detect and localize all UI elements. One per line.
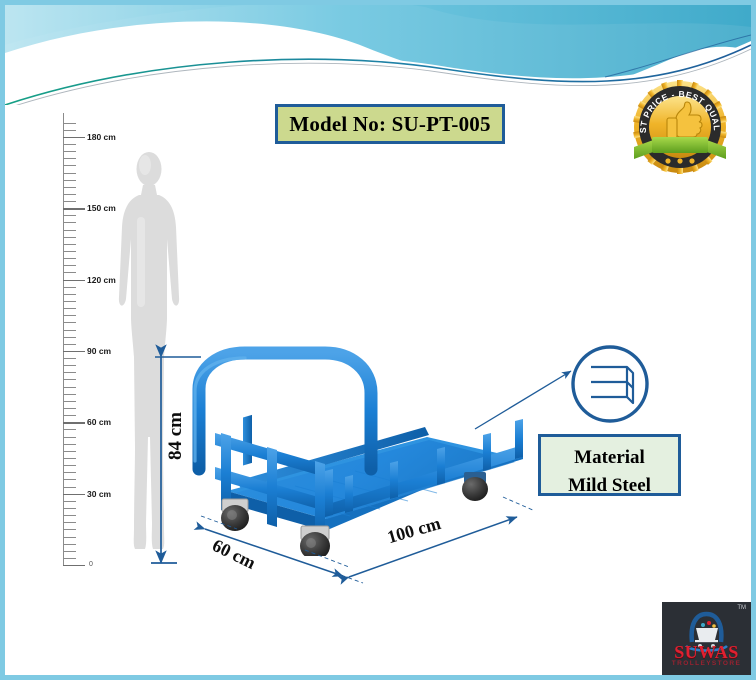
ruler-tick-minor [63, 344, 76, 345]
ruler-tick-minor [63, 479, 76, 480]
ruler-tick-minor [63, 429, 76, 430]
ruler-tick-minor [63, 144, 76, 145]
ruler-tick-minor [63, 408, 76, 409]
ruler-tick-minor [63, 287, 76, 288]
ruler-tick-minor [63, 465, 76, 466]
ruler-tick-minor [63, 458, 76, 459]
ruler-tick-minor [63, 387, 76, 388]
ruler-tick-minor [63, 444, 76, 445]
ruler-tick-minor [63, 123, 76, 124]
ruler-label-60: 60 cm [87, 417, 111, 427]
ruler-tick-minor [63, 487, 76, 488]
ruler-spine [63, 113, 64, 565]
ruler-tick-major [63, 280, 85, 281]
best-price-best-quality-badge: BEST PRICE - BEST QUALITY [626, 73, 734, 181]
ruler-tick-minor [63, 515, 76, 516]
ruler-tick-major [63, 494, 85, 495]
ruler-tick-minor [63, 501, 76, 502]
ruler-tick-minor [63, 294, 76, 295]
logo-tagline: TROLLEYSTORE [662, 660, 751, 667]
ruler-tick-major [63, 565, 85, 566]
ruler-tick-minor [63, 230, 76, 231]
ruler-tick-minor [63, 301, 76, 302]
ruler-tick-minor [63, 151, 76, 152]
ruler-tick-minor [63, 472, 76, 473]
ruler-tick-minor [63, 437, 76, 438]
ruler-tick-minor [63, 322, 76, 323]
product-spec-sheet: BEST PRICE - BEST QUALITY Model No: SU-P… [5, 5, 751, 675]
ruler-tick-minor [63, 180, 76, 181]
end-panel-detail-circle [567, 341, 653, 427]
ruler-tick-minor [63, 415, 76, 416]
ruler-tick-minor [63, 379, 76, 380]
ruler-tick-minor [63, 194, 76, 195]
ruler-tick-minor [63, 165, 76, 166]
height-dimension-label: 84 cm [165, 412, 187, 460]
ruler-tick-minor [63, 237, 76, 238]
ruler-tick-minor [63, 222, 76, 223]
company-logo: TM SUWAS TROLLEYSTORE [662, 602, 751, 675]
ruler-tick-minor [63, 529, 76, 530]
ruler-tick-minor [63, 173, 76, 174]
platform-trolley-illustration [175, 341, 525, 556]
ruler-tick-minor [63, 358, 76, 359]
ruler-tick-major [63, 137, 85, 138]
ruler-tick-minor [63, 451, 76, 452]
model-number-box: Model No: SU-PT-005 [275, 104, 505, 144]
ruler-tick-minor [63, 365, 76, 366]
ruler-tick-minor [63, 537, 76, 538]
ruler-tick-minor [63, 158, 76, 159]
material-box: Material Mild Steel [538, 434, 681, 496]
ruler-tick-minor [63, 394, 76, 395]
trademark-symbol: TM [737, 605, 746, 611]
material-label: Material [541, 444, 678, 472]
ruler-tick-minor [63, 265, 76, 266]
ruler-tick-minor [63, 258, 76, 259]
ruler-tick-minor [63, 244, 76, 245]
ruler-tick-major [63, 422, 85, 423]
ruler-tick-minor [63, 272, 76, 273]
ruler-tick-minor [63, 558, 76, 559]
ruler-tick-minor [63, 130, 76, 131]
ruler-tick-minor [63, 544, 76, 545]
ruler-tick-minor [63, 201, 76, 202]
ruler-tick-major [63, 208, 85, 209]
ruler-label-180: 180 cm [87, 132, 116, 142]
ruler-tick-minor [63, 551, 76, 552]
ruler-tick-minor [63, 508, 76, 509]
ruler-tick-minor [63, 401, 76, 402]
ruler-tick-minor [63, 187, 76, 188]
ruler-tick-minor [63, 337, 76, 338]
ruler-label-30: 30 cm [87, 489, 111, 499]
ruler-tick-major [63, 351, 85, 352]
ruler-tick-minor [63, 215, 76, 216]
ruler-label-90: 90 cm [87, 346, 111, 356]
ruler-tick-minor [63, 308, 76, 309]
ruler-tick-minor [63, 372, 76, 373]
ruler-label-0: 0 [89, 561, 93, 568]
ruler-tick-minor [63, 251, 76, 252]
ruler-tick-minor [63, 330, 76, 331]
material-value: Mild Steel [541, 472, 678, 500]
ruler-tick-minor [63, 522, 76, 523]
ruler-tick-minor [63, 315, 76, 316]
